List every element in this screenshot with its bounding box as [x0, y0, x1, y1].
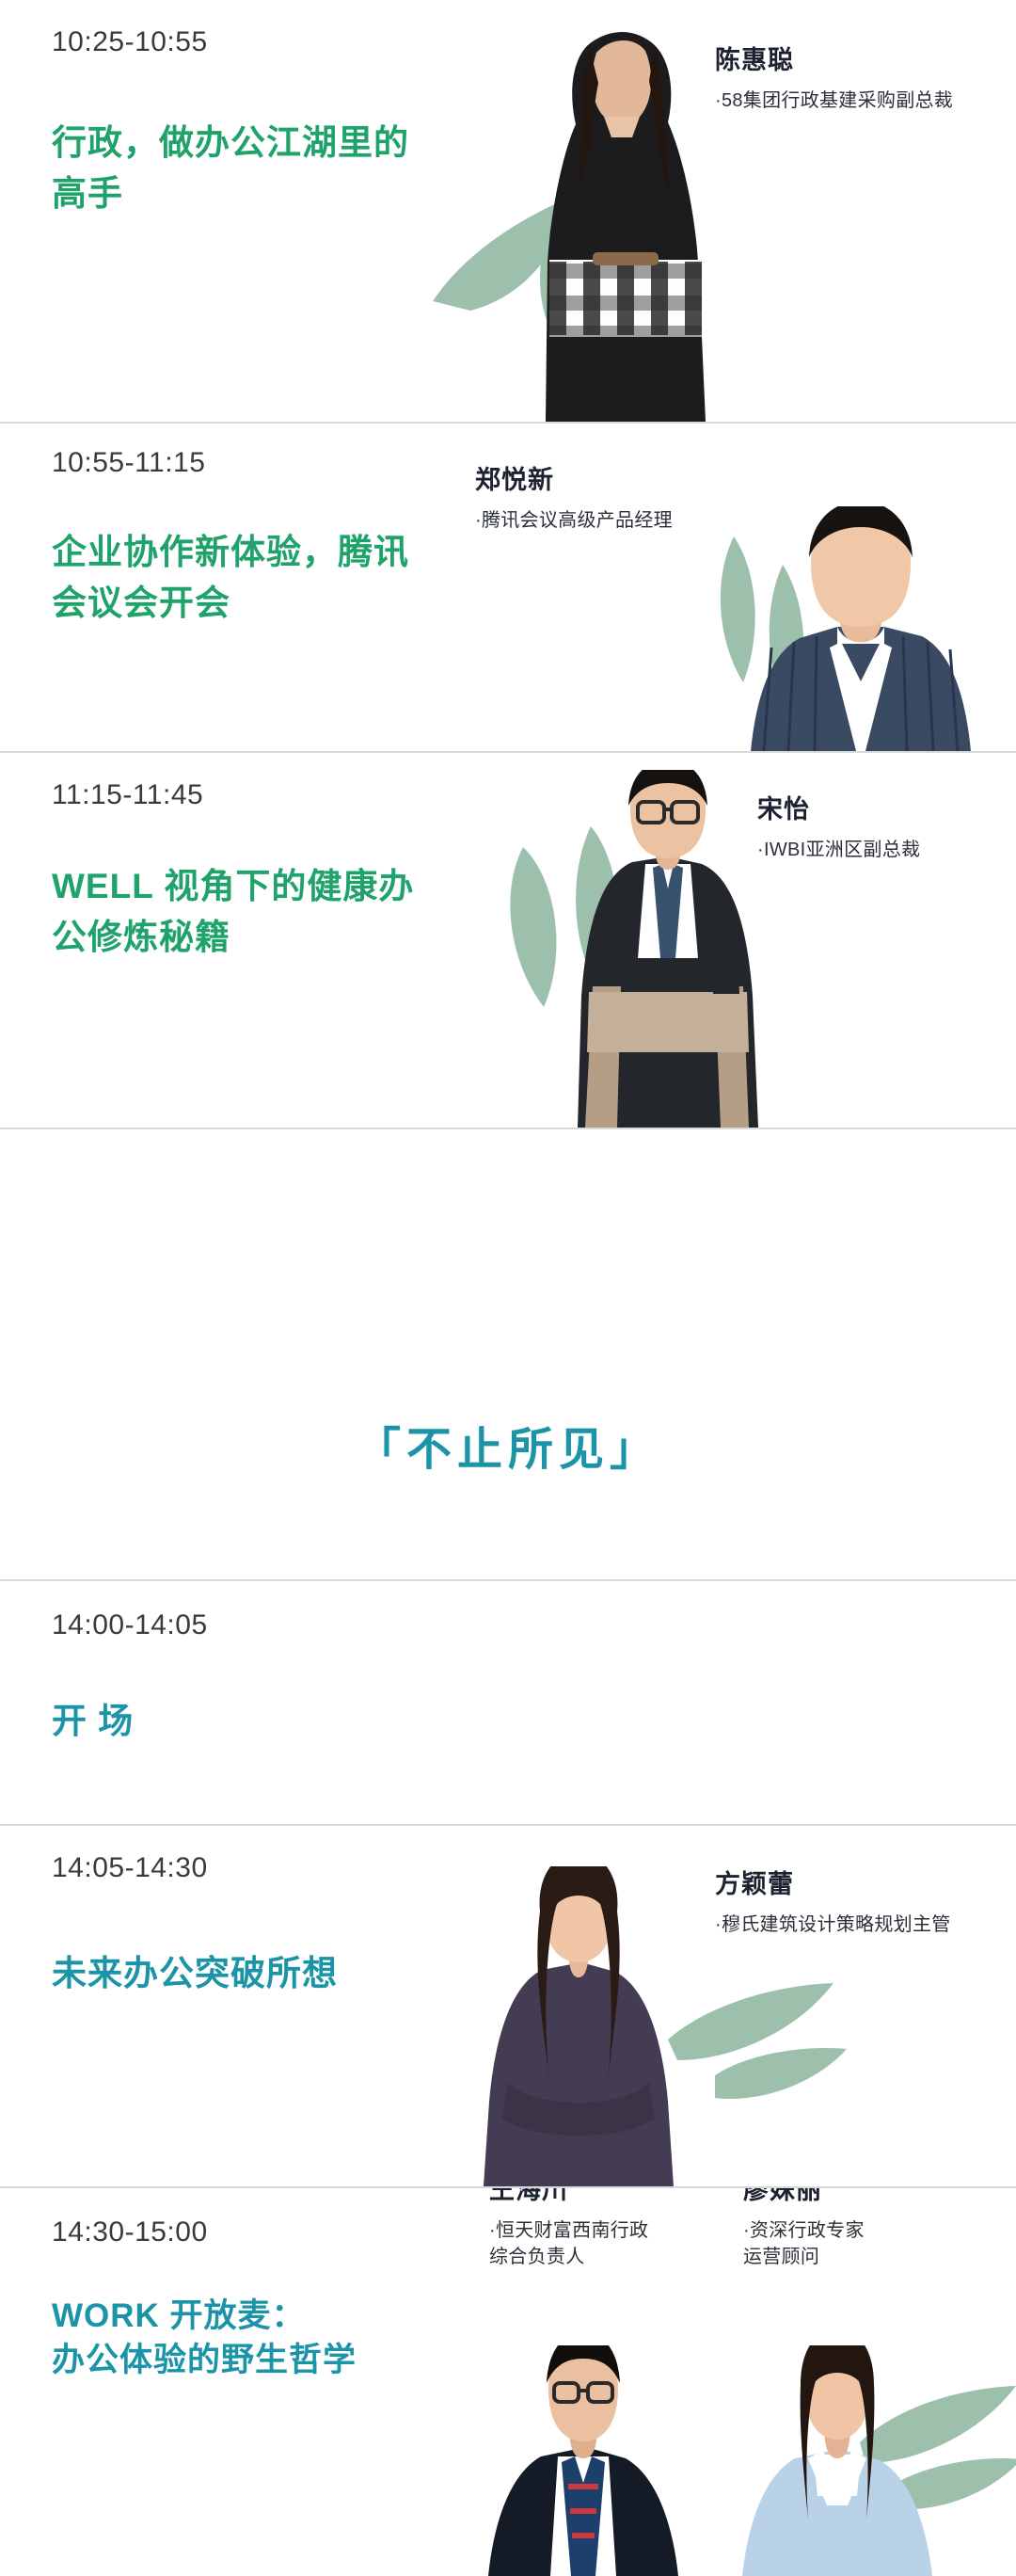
speaker-name: 宋怡 [757, 789, 920, 825]
speaker-photo [475, 2345, 691, 2576]
speaker-block: 宋怡 ·IWBI亚洲区副总裁 [757, 789, 920, 864]
speaker-role: ·腾讯会议高级产品经理 [475, 508, 673, 535]
session-time: 10:55-11:15 [52, 447, 205, 479]
session-title: 开 场 [52, 1696, 134, 1747]
session-row: 14:05-14:30 未来办公突破所想 方颖蕾 ·穆氏建筑设计策略规划主管 [0, 1826, 1016, 2188]
session-time: 14:00-14:05 [52, 1609, 208, 1641]
speaker-name: 郑悦新 [475, 459, 673, 496]
session-title: WORK 开放麦： 办公体验的野生哲学 [52, 2294, 357, 2383]
speaker-photo [743, 506, 978, 751]
session-title: WELL 视角下的健康办 公修炼秘籍 [52, 861, 414, 962]
speaker-role: ·穆氏建筑设计策略规划主管 [715, 1912, 951, 1939]
session-time: 11:15-11:45 [52, 779, 203, 811]
session-time: 14:30-15:00 [52, 2216, 208, 2248]
speaker-role: ·58集团行政基建采购副总裁 [715, 88, 953, 115]
speaker-role: ·恒天财富西南行政 综合负责人 [489, 2218, 648, 2270]
session-row: 10:55-11:15 企业协作新体验，腾讯 会议会开会 [0, 424, 1016, 753]
speaker-name: 方颖蕾 [715, 1864, 951, 1900]
speaker-photo [470, 1866, 687, 2186]
speaker-block: 廖姝丽 ·资深行政专家 运营顾问 [743, 2188, 865, 2270]
speaker-block: 陈惠聪 ·58集团行政基建采购副总裁 [715, 40, 953, 115]
speaker-block: 郑悦新 ·腾讯会议高级产品经理 [475, 459, 673, 535]
speaker-photo [729, 2345, 945, 2576]
session-row: 14:30-15:00 WORK 开放麦： 办公体验的野生哲学 王海川 ·恒天财… [0, 2188, 1016, 2576]
speaker-name: 陈惠聪 [715, 40, 953, 76]
speaker-role: ·IWBI亚洲区副总裁 [757, 838, 920, 864]
session-time: 10:25-10:55 [52, 26, 208, 58]
speaker-photo [536, 26, 715, 422]
session-row: 11:15-11:45 WELL 视角下的健康办 公修炼秘籍 [0, 753, 1016, 1129]
speaker-name: 廖姝丽 [743, 2188, 865, 2206]
leaf-decoration [677, 527, 856, 748]
session-row: 14:00-14:05 开 场 [0, 1581, 1016, 1826]
leaf-decoration [847, 2376, 1016, 2576]
section-heading: 「不止所见」 [0, 1129, 1016, 1581]
speaker-block: 王海川 ·恒天财富西南行政 综合负责人 [489, 2188, 648, 2270]
session-time: 14:05-14:30 [52, 1852, 208, 1884]
agenda-page: 10:25-10:55 行政，做办公江湖里的 高手 [0, 0, 1016, 2576]
leaf-decoration [414, 179, 621, 391]
session-title: 未来办公突破所想 [52, 1948, 338, 1999]
speaker-block: 方颖蕾 ·穆氏建筑设计策略规划主管 [715, 1864, 951, 1939]
session-title: 行政，做办公江湖里的 高手 [52, 118, 409, 218]
section-heading-text: 「不止所见」 [356, 1412, 660, 1478]
speaker-photo [564, 770, 771, 1128]
speaker-role: ·资深行政专家 运营顾问 [743, 2218, 865, 2270]
leaf-decoration [659, 1962, 865, 2165]
session-title: 企业协作新体验，腾讯 会议会开会 [52, 527, 409, 628]
session-row: 10:25-10:55 行政，做办公江湖里的 高手 [0, 0, 1016, 424]
speaker-name: 王海川 [489, 2188, 648, 2206]
leaf-decoration [489, 819, 706, 1049]
